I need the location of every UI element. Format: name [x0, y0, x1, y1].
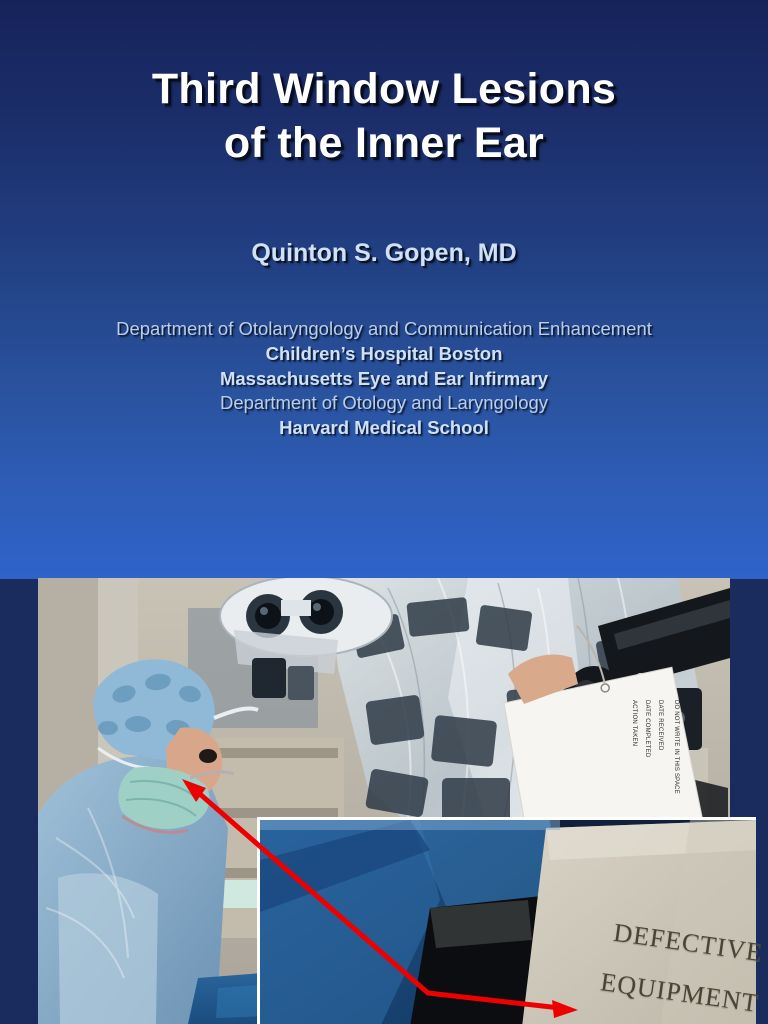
repair-tag-line-4: ACTION TAKEN [631, 700, 637, 746]
repair-tag-line-1: DO NOT WRITE IN THIS SPACE [673, 700, 679, 794]
presentation-slide: Third Window Lesions of the Inner Ear Qu… [0, 0, 768, 1024]
slide-title: Third Window Lesions of the Inner Ear [0, 62, 768, 170]
affiliation-line-4: Department of Otology and Laryngology [0, 391, 768, 416]
repair-tag-line-2: DATE RECEIVED [657, 700, 663, 751]
affiliation-line-1: Department of Otolaryngology and Communi… [0, 317, 768, 342]
affiliation-line-3: Massachusetts Eye and Ear Infirmary [0, 367, 768, 392]
affiliation-line-5: Harvard Medical School [0, 416, 768, 441]
title-line-1: Third Window Lesions [0, 62, 768, 116]
affiliation-line-2: Children’s Hospital Boston [0, 342, 768, 367]
logo-row: Children’s Hospital Boston VE RI TAS [0, 450, 768, 562]
title-line-2: of the Inner Ear [0, 116, 768, 170]
repair-tag-line-3: DATE COMPLETED [644, 700, 650, 757]
author-name: Quinton S. Gopen, MD [0, 239, 768, 268]
affiliation-block: Department of Otolaryngology and Communi… [0, 317, 768, 441]
